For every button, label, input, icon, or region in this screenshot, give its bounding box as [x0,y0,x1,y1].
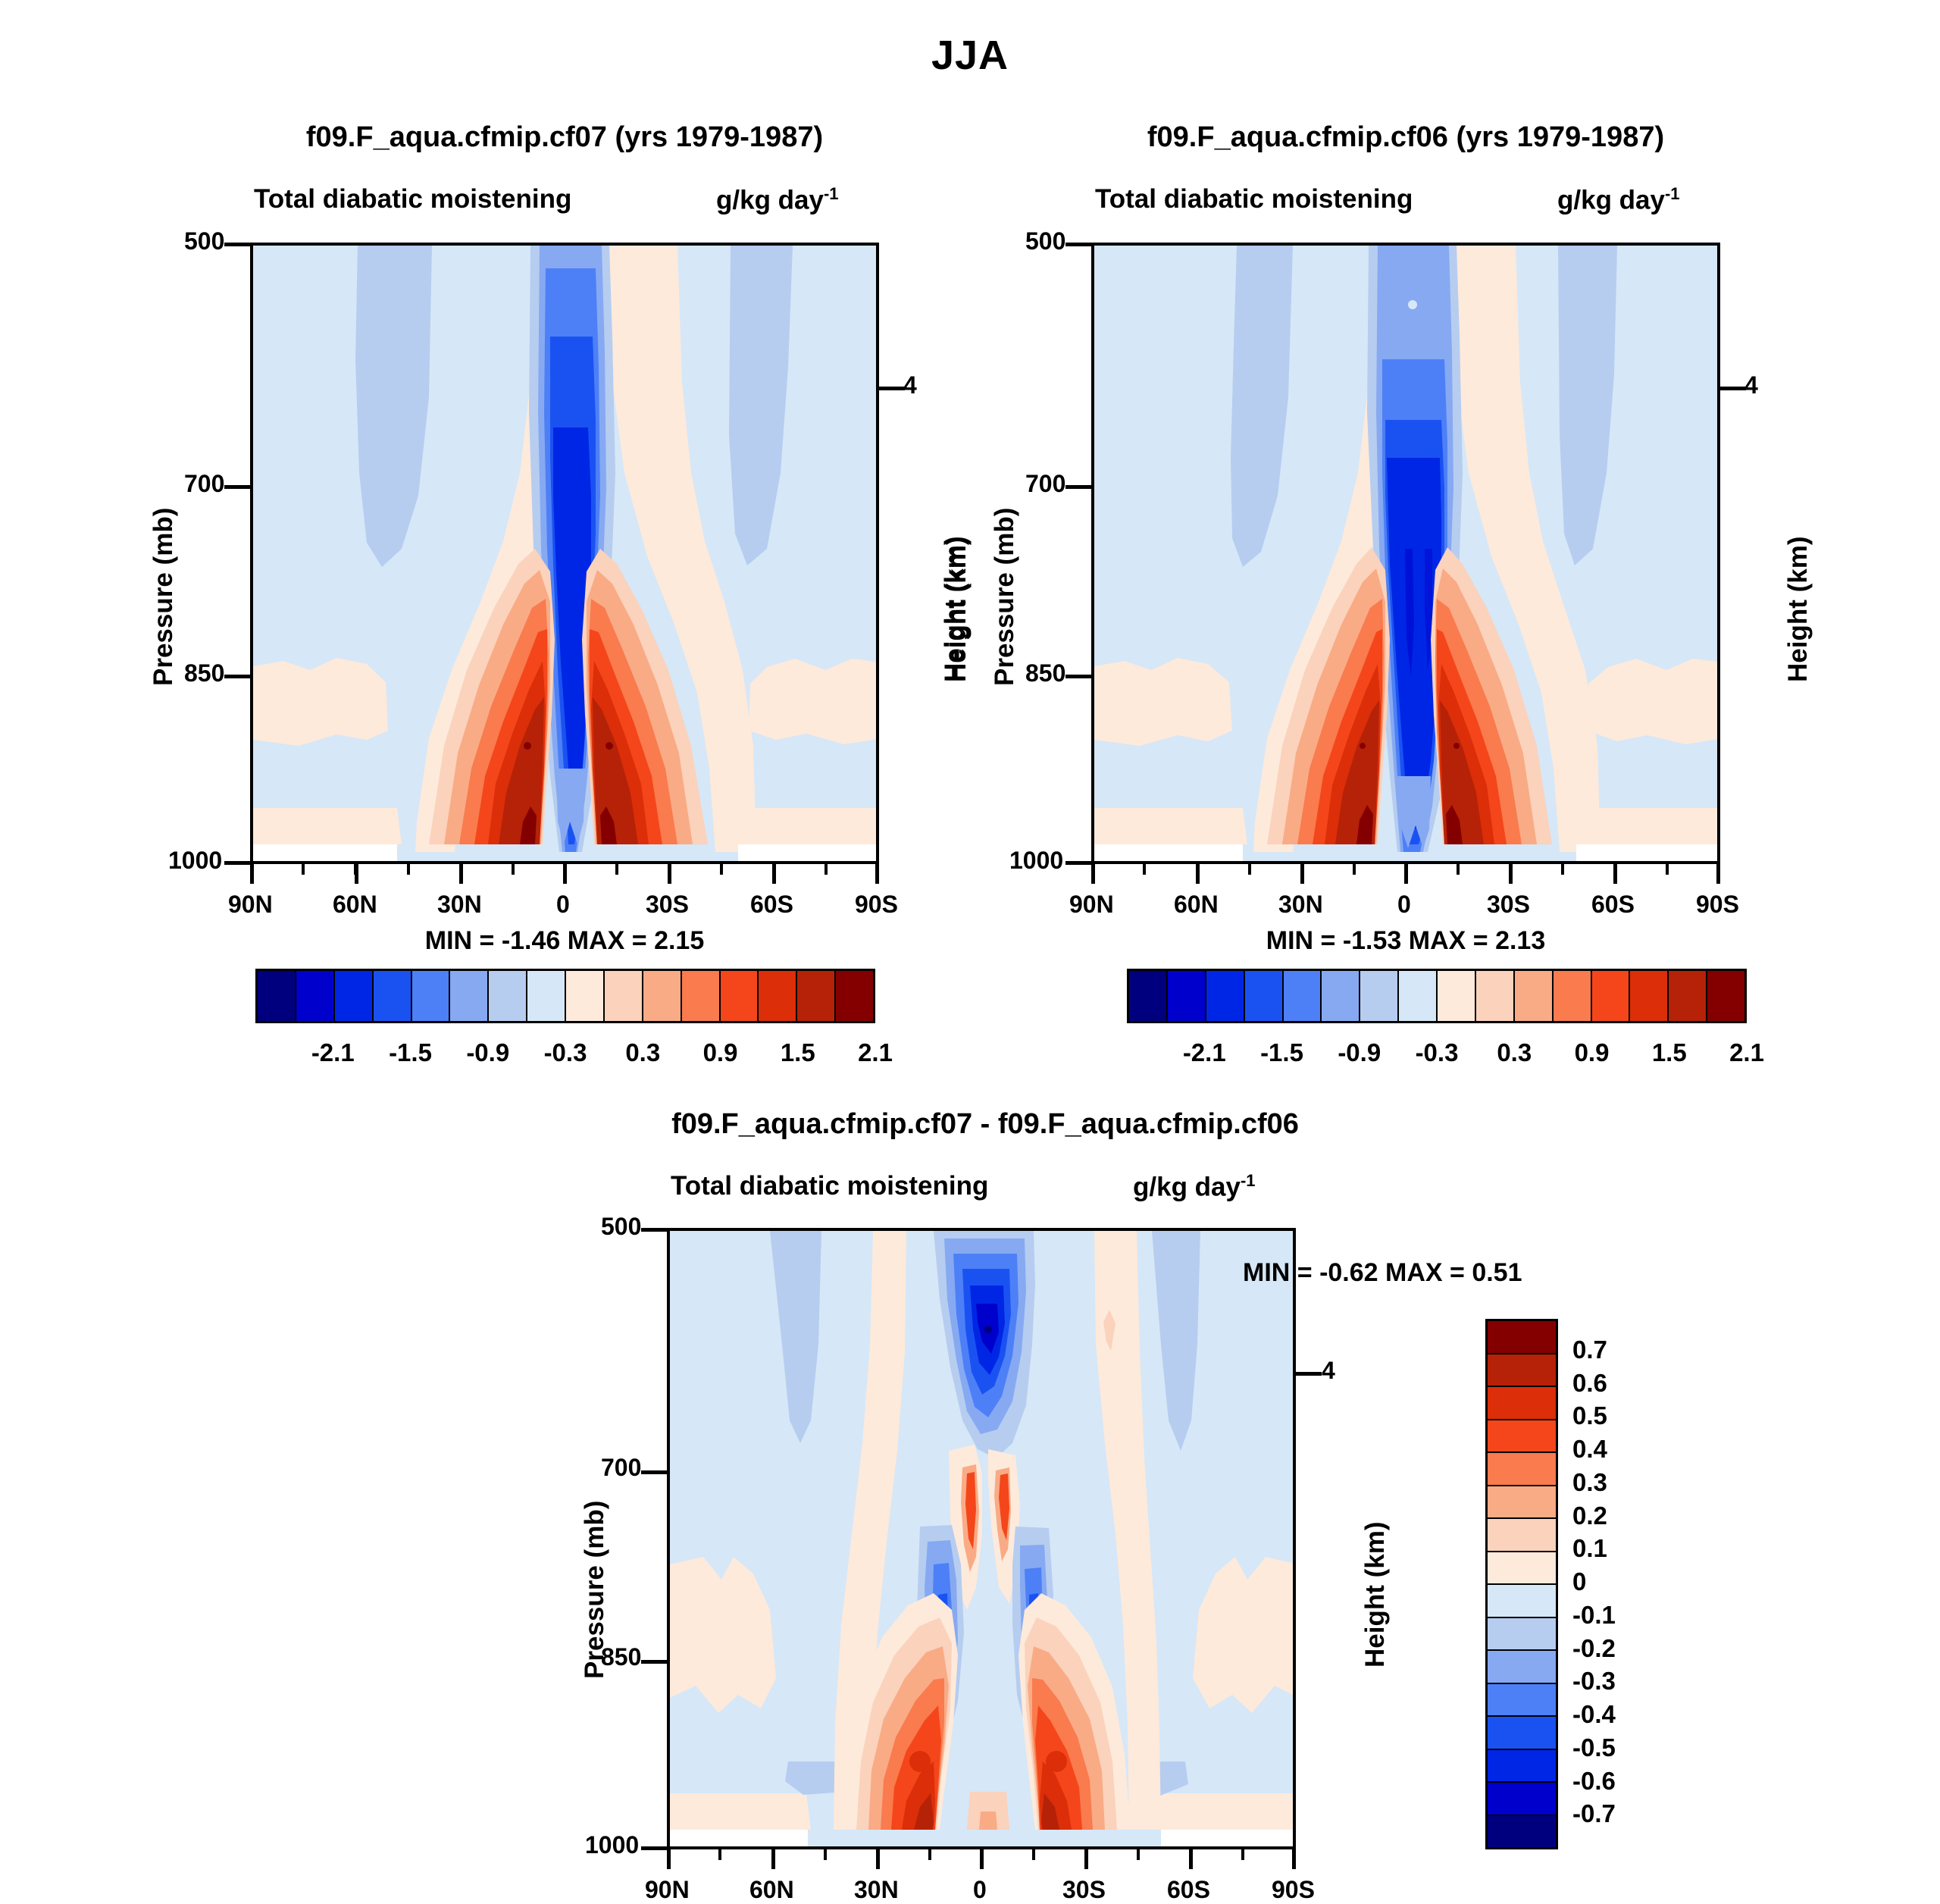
diff-colorbar-tick-label: -0.7 [1572,1799,1616,1828]
diff-colorbar-tick-label: 0 [1572,1567,1586,1596]
colorbar-tick-label: 2.1 [1729,1038,1764,1067]
panel-diff-xtick-minor [1137,1849,1140,1860]
panel-cf07-xlabel-60N: 60N [333,891,377,919]
panel-diff-height-tickmark [1296,1372,1322,1376]
figure-season-title: JJA [0,32,1940,79]
panel-diff-xtick-minor [824,1849,827,1860]
colorbar-swatch-12 [1592,971,1631,1021]
panel-cf06-xtick-minor [1457,864,1460,875]
colorbar-tick-label: -0.3 [544,1038,587,1067]
panel-diff-units: g/kg day-1 [1133,1171,1256,1203]
panel-cf07-xtick-0 [563,864,567,884]
colorbar-tick-label: -2.1 [311,1038,355,1067]
diff-colorbar-tick-label: -0.2 [1572,1634,1616,1663]
panel-cf06-colorbar[interactable] [1127,969,1747,1023]
colorbar-tick-label: -0.9 [466,1038,509,1067]
panel-cf07-units-text: g/kg day [716,186,824,215]
colorbar-tick-label: 1.5 [1652,1038,1687,1067]
panel-cf07-contours [253,246,879,864]
panel-cf07-height-tick: 4 [903,371,917,399]
panel-diff-ytickmark-1000 [641,1846,667,1850]
diff-colorbar-tick-label: 0.1 [1572,1534,1607,1563]
panel-cf06-ytickmark-700 [1065,485,1091,489]
colorbar-swatch-0 [258,971,296,1021]
panel-cf06-xtick-minor [1666,864,1669,875]
diff-colorbar-swatch-6 [1488,1519,1556,1552]
panel-diff-ytick-500: 500 [601,1213,641,1241]
panel-diff-ytick-850: 850 [601,1643,641,1671]
diff-colorbar-tick-label: -0.1 [1572,1601,1616,1630]
panel-diff-xlabel-60N: 60N [749,1876,794,1904]
panel-cf07-xtick-60N [355,864,358,884]
diff-colorbar-tick-label: 0.4 [1572,1435,1607,1464]
panel-diff-xtick-60N [771,1849,775,1869]
panel-cf06-units: g/kg day-1 [1557,184,1680,216]
panel-cf06-ytickmark-500 [1065,243,1091,246]
panel-cf07-plot[interactable] [250,243,879,864]
panel-cf06-ylabel-height-left: Height (km) [940,537,970,683]
panel-diff-title: f09.F_aqua.cfmip.cf07 - f09.F_aqua.cfmip… [553,1108,1417,1141]
panel-cf06-contours [1094,246,1720,864]
panel-cf06-ylabel-height: Height (km) [1783,537,1813,683]
panel-cf06-ytick-500: 500 [1025,227,1065,255]
colorbar-swatch-12 [721,971,759,1021]
panel-cf07-height-tickmark [879,387,905,390]
diff-colorbar-swatch-11 [1488,1684,1556,1718]
colorbar-tick-label: 0.9 [1575,1038,1610,1067]
diff-colorbar-tick-label: 0.7 [1572,1336,1607,1364]
panel-diff-xlabel-30S: 30S [1062,1876,1106,1904]
panel-diff-xtick-minor [1241,1849,1244,1860]
colorbar-tick-label: -1.5 [389,1038,432,1067]
diff-colorbar-swatch-5 [1488,1486,1556,1520]
colorbar-swatch-13 [759,971,797,1021]
panel-cf07-xlabel-90S: 90S [855,891,898,919]
colorbar-swatch-5 [450,971,489,1021]
panel-cf06-xtick-60N [1196,864,1200,884]
panel-cf06-xlabel-30N: 30N [1278,891,1323,919]
diff-colorbar-tick-label: -0.6 [1572,1767,1616,1796]
panel-diff-ytickmark-500 [641,1228,667,1232]
colorbar-swatch-3 [374,971,412,1021]
diff-colorbar-swatch-0 [1488,1321,1556,1354]
panel-diff-units-text: g/kg day [1133,1173,1241,1202]
panel-cf07-ylabel-pressure: Pressure (mb) [149,508,179,686]
panel-cf07-ytick-500: 500 [184,227,224,255]
colorbar-swatch-11 [1554,971,1592,1021]
panel-cf06-height-tickmark [1720,387,1746,390]
panel-cf06-xtick-60S [1613,864,1617,884]
panel-diff-colorbar[interactable] [1485,1319,1558,1849]
diff-colorbar-swatch-1 [1488,1354,1556,1388]
panel-cf06-xlabel-90N: 90N [1069,891,1114,919]
panel-cf07-xlabel-90N: 90N [228,891,273,919]
panel-diff-xtick-minor [928,1849,931,1860]
colorbar-swatch-11 [682,971,721,1021]
diff-colorbar-tick-label: 0.2 [1572,1502,1607,1530]
diff-colorbar-swatch-12 [1488,1717,1556,1750]
colorbar-tick-label: 1.5 [781,1038,815,1067]
panel-diff-ytick-700: 700 [601,1454,641,1482]
panel-cf07-colorbar[interactable] [255,969,875,1023]
panel-cf07-ytick-1000: 1000 [168,847,222,875]
panel-diff-minmax: MIN = -0.62 MAX = 0.51 [1243,1258,1522,1288]
panel-cf06-xtick-90N [1091,864,1095,884]
panel-cf07-xtick-30N [459,864,463,884]
diff-colorbar-swatch-14 [1488,1783,1556,1816]
diff-colorbar-swatch-9 [1488,1618,1556,1652]
panel-cf07-xtick-30S [668,864,671,884]
panel-diff-ytickmark-700 [641,1470,667,1474]
colorbar-swatch-2 [335,971,374,1021]
colorbar-swatch-10 [1515,971,1554,1021]
panel-diff-xlabel-60S: 60S [1167,1876,1210,1904]
diff-colorbar-tick-label: 0.5 [1572,1401,1607,1430]
figure-root: JJA f09.F_aqua.cfmip.cf07 (yrs 1979-1987… [0,0,1940,1892]
panel-cf07-ytickmark-1000 [224,861,250,865]
panel-cf06-xtick-90S [1716,864,1720,884]
colorbar-swatch-6 [489,971,527,1021]
colorbar-tick-label: 2.1 [858,1038,893,1067]
panel-cf06-xtick-minor [1143,864,1146,875]
panel-diff-ylabel-height: Height (km) [1360,1522,1391,1668]
panel-cf06-xtick-minor [1353,864,1356,875]
panel-cf06-xlabel-90S: 90S [1696,891,1739,919]
panel-diff-xtick-30N [876,1849,880,1869]
panel-cf06-xtick-minor [1248,864,1251,875]
diff-colorbar-swatch-13 [1488,1750,1556,1783]
colorbar-swatch-8 [566,971,605,1021]
colorbar-swatch-5 [1322,971,1360,1021]
panel-cf07-ytick-700: 700 [184,470,224,498]
panel-diff-ytick-1000: 1000 [585,1831,639,1859]
colorbar-swatch-14 [797,971,836,1021]
diff-colorbar-swatch-7 [1488,1552,1556,1586]
colorbar-swatch-7 [1399,971,1438,1021]
panel-diff-ytickmark-850 [641,1660,667,1664]
panel-diff-xtick-minor [1032,1849,1035,1860]
panel-diff-height-tick: 4 [1322,1357,1335,1385]
panel-cf06-ytick-700: 700 [1025,470,1065,498]
panel-cf07-subtitle: Total diabatic moistening [254,184,571,215]
panel-cf06-xtick-30S [1509,864,1513,884]
panel-cf06-xlabel-0: 0 [1397,891,1411,919]
colorbar-swatch-9 [605,971,643,1021]
panel-diff-xlabel-90N: 90N [645,1876,690,1904]
panel-cf07-xtick-60S [772,864,776,884]
diff-colorbar-swatch-4 [1488,1453,1556,1486]
panel-cf06-ytick-850: 850 [1025,659,1065,687]
panel-cf07-ytick-850: 850 [184,659,224,687]
diff-colorbar-swatch-8 [1488,1585,1556,1618]
diff-colorbar-tick-label: 0.6 [1572,1369,1607,1398]
panel-cf07-ytickmark-850 [224,675,250,678]
panel-cf06-units-exponent: -1 [1665,184,1680,203]
panel-cf06-minmax: MIN = -1.53 MAX = 2.13 [1091,926,1720,956]
panel-diff-units-exponent: -1 [1241,1171,1256,1190]
panel-cf07-xtick-minor [615,864,618,875]
diff-colorbar-swatch-15 [1488,1816,1556,1848]
diff-colorbar-swatch-2 [1488,1387,1556,1420]
panel-cf07-xtick-minor [407,864,410,875]
panel-cf06-units-text: g/kg day [1557,186,1665,215]
colorbar-swatch-15 [1707,971,1744,1021]
panel-cf07-xtick-90N [250,864,254,884]
colorbar-tick-label: 0.3 [1497,1038,1532,1067]
colorbar-swatch-8 [1438,971,1476,1021]
panel-cf07-xtick-minor [302,864,305,875]
panel-diff-xlabel-0: 0 [973,1876,987,1904]
panel-cf06-xlabel-60S: 60S [1591,891,1635,919]
panel-cf06-plot[interactable] [1091,243,1720,864]
panel-cf06-colorbar-ticks: -2.1-1.5-0.9-0.30.30.91.52.1 [1127,1038,1747,1072]
panel-cf06-xtick-30N [1300,864,1304,884]
panel-cf06-ylabel-pressure: Pressure (mb) [990,508,1020,686]
panel-cf07-units-exponent: -1 [824,184,839,203]
panel-cf07-xtick-90S [875,864,879,884]
panel-cf07-units: g/kg day-1 [716,184,839,216]
panel-diff-contours [670,1231,1296,1849]
diff-colorbar-tick-label: -0.4 [1572,1700,1616,1729]
diff-colorbar-tick-label: 0.3 [1572,1468,1607,1497]
colorbar-tick-label: 0.3 [625,1038,660,1067]
panel-cf06-title: f09.F_aqua.cfmip.cf06 (yrs 1979-1987) [1091,121,1720,154]
panel-cf07-xlabel-0: 0 [556,891,570,919]
panel-diff-xtick-30S [1084,1849,1088,1869]
panel-cf07-xlabel-30S: 30S [646,891,689,919]
panel-diff-xtick-90N [667,1849,671,1869]
panel-diff-xtick-90S [1292,1849,1296,1869]
panel-cf06-xtick-minor [1561,864,1564,875]
colorbar-tick-label: 0.9 [703,1038,738,1067]
colorbar-swatch-3 [1245,971,1284,1021]
panel-diff-xtick-0 [980,1849,984,1869]
panel-cf07-title: f09.F_aqua.cfmip.cf07 (yrs 1979-1987) [250,121,879,154]
colorbar-swatch-2 [1206,971,1245,1021]
panel-cf07-ytickmark-700 [224,485,250,489]
colorbar-tick-label: -0.3 [1416,1038,1459,1067]
panel-diff-subtitle: Total diabatic moistening [671,1171,988,1201]
colorbar-swatch-6 [1360,971,1399,1021]
colorbar-swatch-10 [643,971,682,1021]
diff-colorbar-tick-label: -0.3 [1572,1667,1616,1696]
panel-cf06-xlabel-60N: 60N [1174,891,1219,919]
diff-colorbar-swatch-3 [1488,1420,1556,1454]
panel-cf07-xtick-minor [512,864,515,875]
panel-diff-xlabel-30N: 30N [854,1876,899,1904]
colorbar-tick-label: -0.9 [1338,1038,1381,1067]
panel-cf06-xtick-0 [1404,864,1408,884]
diff-colorbar-swatch-10 [1488,1651,1556,1684]
colorbar-tick-label: -1.5 [1260,1038,1303,1067]
colorbar-swatch-4 [412,971,451,1021]
colorbar-swatch-15 [836,971,873,1021]
panel-cf06-subtitle: Total diabatic moistening [1095,184,1413,215]
colorbar-swatch-4 [1284,971,1322,1021]
colorbar-swatch-9 [1476,971,1515,1021]
colorbar-swatch-1 [296,971,335,1021]
panel-cf07-ytickmark-500 [224,243,250,246]
panel-cf07-xtick-minor [720,864,723,875]
panel-cf06-xlabel-30S: 30S [1487,891,1530,919]
colorbar-swatch-7 [527,971,566,1021]
panel-cf07-minmax: MIN = -1.46 MAX = 2.15 [250,926,879,956]
panel-diff-xtick-60S [1189,1849,1193,1869]
colorbar-tick-label: -2.1 [1183,1038,1226,1067]
panel-cf06-height-tick: 4 [1744,371,1758,399]
panel-cf07-colorbar-ticks: -2.1-1.5-0.9-0.30.30.91.52.1 [255,1038,875,1072]
panel-cf07-xtick-minor [824,864,828,875]
panel-cf07-xlabel-60S: 60S [750,891,793,919]
panel-diff-xlabel-90S: 90S [1272,1876,1315,1904]
diff-colorbar-tick-label: -0.5 [1572,1733,1616,1762]
colorbar-swatch-14 [1669,971,1707,1021]
panel-diff-plot[interactable] [667,1228,1296,1849]
panel-cf07-xlabel-30N: 30N [437,891,482,919]
colorbar-swatch-1 [1168,971,1206,1021]
panel-diff-xtick-minor [718,1849,721,1860]
colorbar-swatch-0 [1129,971,1168,1021]
panel-cf06-ytickmark-850 [1065,675,1091,678]
panel-cf06-ytick-1000: 1000 [1009,847,1063,875]
panel-cf06-ytickmark-1000 [1065,861,1091,865]
colorbar-swatch-13 [1630,971,1669,1021]
